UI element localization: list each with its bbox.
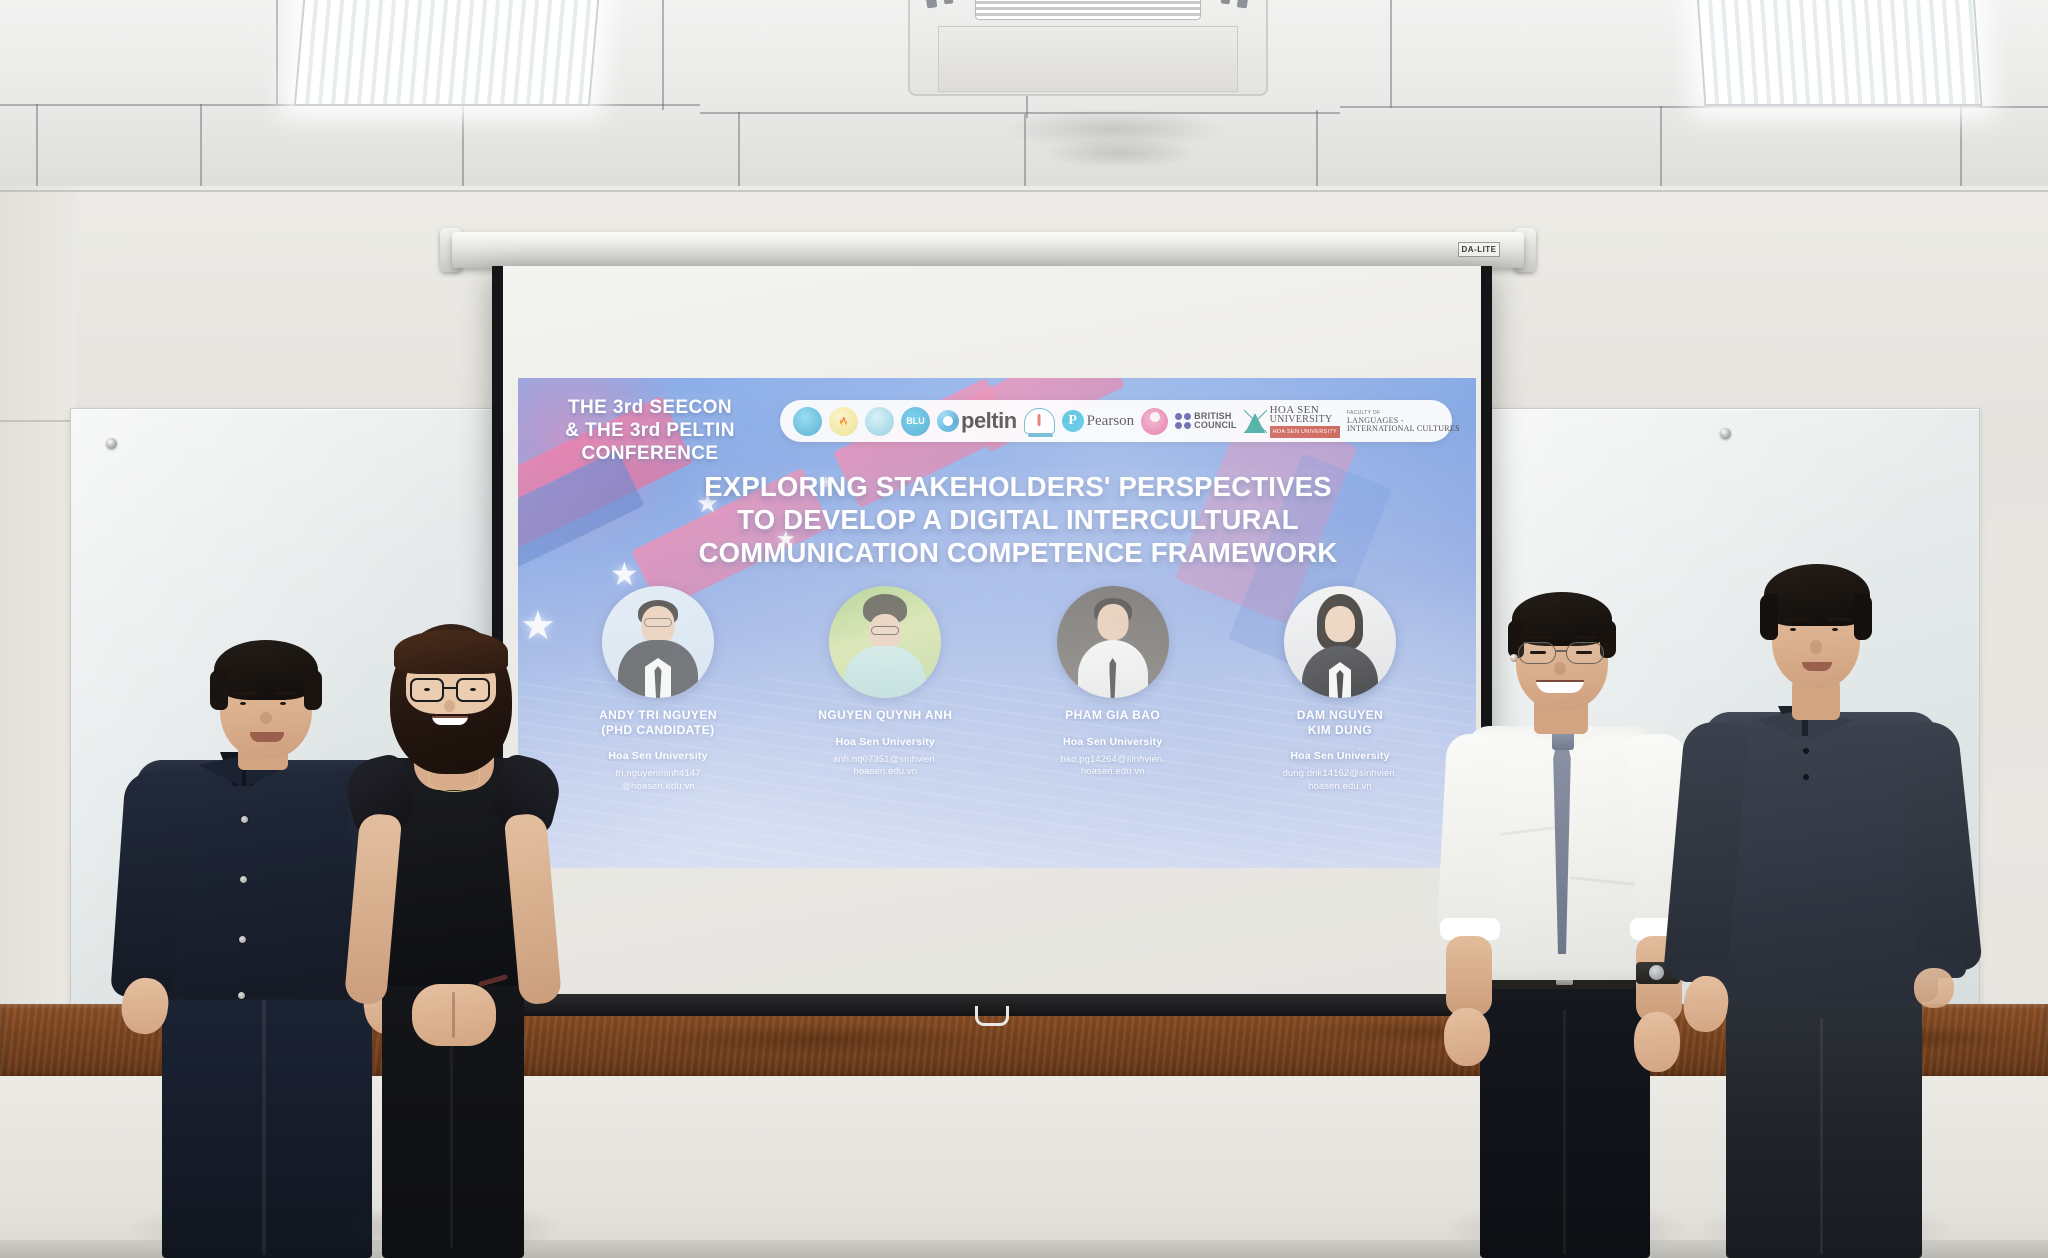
hoa-sen-line-2: UNIVERSITY	[1270, 415, 1340, 425]
projector-screen-roller: DA-LITE	[452, 232, 1524, 268]
presenter-name-line-1: NGUYEN QUYNH ANH	[781, 708, 989, 723]
portrait-pham-gia-bao	[1057, 586, 1169, 698]
whiteboard-screw-right	[1720, 428, 1731, 439]
blu-logo-icon: BLU	[901, 407, 930, 436]
peltin-wordmark: peltin	[961, 408, 1017, 434]
presenter-email: anh.nq07351@sinhvien. hoasen.edu.vn	[781, 754, 989, 779]
person-4-legs	[1726, 992, 1922, 1258]
british-council-line-2: COUNCIL	[1194, 421, 1236, 431]
ceiling-ac-cassette	[908, 0, 1268, 96]
slide-title-line-1: EXPLORING STAKEHOLDERS' PERSPECTIVES	[578, 470, 1458, 503]
slide-title: EXPLORING STAKEHOLDERS' PERSPECTIVES TO …	[578, 470, 1458, 569]
pearson-logo: P Pearson	[1062, 410, 1135, 432]
faculty-line-2: INTERNATIONAL CULTURES	[1347, 425, 1460, 433]
person-2-left-center	[310, 600, 590, 1258]
presenter-email-line-2: hoasen.edu.vn	[781, 766, 989, 779]
presenter-name: NGUYEN QUYNH ANH	[781, 708, 989, 723]
hoa-sen-university-logo: HOA SEN UNIVERSITY HOA SEN UNIVERSITY	[1244, 405, 1340, 438]
presenter-card: PHAM GIA BAO Hoa Sen University bao.pg14…	[1009, 586, 1217, 793]
presenter-card: NGUYEN QUYNH ANH Hoa Sen University anh.…	[781, 586, 989, 793]
presenter-name-line-1: PHAM GIA BAO	[1009, 708, 1217, 723]
presenter-name-line-1: DAM NGUYEN	[1236, 708, 1444, 723]
hoa-sen-ribbon: HOA SEN UNIVERSITY	[1270, 426, 1340, 438]
bell-crest-logo-icon	[1024, 408, 1055, 434]
conference-label-line-3: CONFERENCE	[530, 442, 770, 465]
presenter-card: DAM NGUYEN KIM DUNG Hoa Sen University d…	[1236, 586, 1444, 793]
presenter-organization: Hoa Sen University	[1009, 736, 1217, 749]
presenter-organization: Hoa Sen University	[1236, 750, 1444, 763]
person-1-hair	[214, 640, 318, 700]
conference-group-photo: DA-LITE ★ ★ ★ ★ ★ THE 3rd SEECON & THE 3…	[0, 0, 2048, 1258]
person-4-right	[1660, 560, 1990, 1258]
presenter-email: bao.pg14264@sinhvien. hoasen.edu.vn	[1009, 754, 1217, 779]
university-crest-1-icon	[793, 407, 822, 436]
presenter-email-line-1: anh.nq07351@sinhvien.	[781, 754, 989, 767]
hoa-sen-lotus-icon	[1244, 410, 1267, 433]
presenter-email-line-2: hoasen.edu.vn	[1236, 781, 1444, 794]
presenter-email: dung.dnk14162@sinhvien. hoasen.edu.vn	[1236, 768, 1444, 793]
peltin-swirl-icon	[937, 410, 959, 432]
flame-crest-logo-icon: 🔥	[829, 407, 858, 436]
conference-label-line-2: & THE 3rd PELTIN	[530, 419, 770, 442]
presenter-email-line-1: bao.pg14264@sinhvien.	[1009, 754, 1217, 767]
portrait-nguyen-quynh-anh	[829, 586, 941, 698]
screen-brand-label: DA-LITE	[1458, 242, 1500, 257]
person-4-hand-in-pocket	[1914, 968, 1954, 1008]
british-council-dots-icon	[1175, 413, 1191, 429]
presenter-name-line-2: KIM DUNG	[1236, 723, 1444, 738]
ceiling-light-right	[1696, 0, 1983, 106]
presenter-list: ANDY TRI NGUYEN (PHD CANDIDATE) Hoa Sen …	[554, 586, 1444, 793]
sponsor-logo-strip: 🔥 BLU peltin P Pearson B	[780, 400, 1452, 442]
british-council-wordmark: BRITISH COUNCIL	[1194, 412, 1236, 431]
portrait-andy-tri-nguyen	[602, 586, 714, 698]
british-council-logo: BRITISH COUNCIL	[1175, 412, 1236, 431]
screen-pull-handle[interactable]	[975, 1006, 1009, 1026]
presenter-name: PHAM GIA BAO	[1009, 708, 1217, 723]
suspended-ceiling	[0, 0, 2048, 200]
peltin-logo: peltin	[937, 408, 1017, 434]
presenter-organization: Hoa Sen University	[781, 736, 989, 749]
person-3-smile	[1536, 680, 1584, 693]
portrait-dam-nguyen-kim-dung	[1284, 586, 1396, 698]
pink-crest-logo-icon	[1141, 408, 1168, 435]
whiteboard-screw-left	[106, 438, 117, 449]
person-3-hand-left	[1444, 1008, 1490, 1066]
institute-crest-logo-icon	[865, 407, 894, 436]
ceiling-light-left	[294, 0, 602, 106]
presentation-slide: ★ ★ ★ ★ ★ THE 3rd SEECON & THE 3rd PELTI…	[518, 378, 1476, 868]
presenter-name: DAM NGUYEN KIM DUNG	[1236, 708, 1444, 737]
person-3-arm-left	[1437, 733, 1505, 936]
conference-label-line-1: THE 3rd SEECON	[530, 396, 770, 419]
pearson-mark-icon: P	[1062, 410, 1084, 432]
presenter-email-line-2: hoasen.edu.vn	[1009, 766, 1217, 779]
faculty-languages-logo: FACULTY OF LANGUAGES - INTERNATIONAL CUL…	[1347, 409, 1460, 433]
hoa-sen-line-1: HOA SEN	[1270, 405, 1340, 415]
slide-title-line-2: TO DEVELOP A DIGITAL INTERCULTURAL	[578, 503, 1458, 536]
conference-label: THE 3rd SEECON & THE 3rd PELTIN CONFEREN…	[530, 396, 770, 465]
presenter-email-line-1: dung.dnk14162@sinhvien.	[1236, 768, 1444, 781]
slide-title-line-3: COMMUNICATION COMPETENCE FRAMEWORK	[578, 536, 1458, 569]
pearson-wordmark: Pearson	[1087, 413, 1135, 430]
